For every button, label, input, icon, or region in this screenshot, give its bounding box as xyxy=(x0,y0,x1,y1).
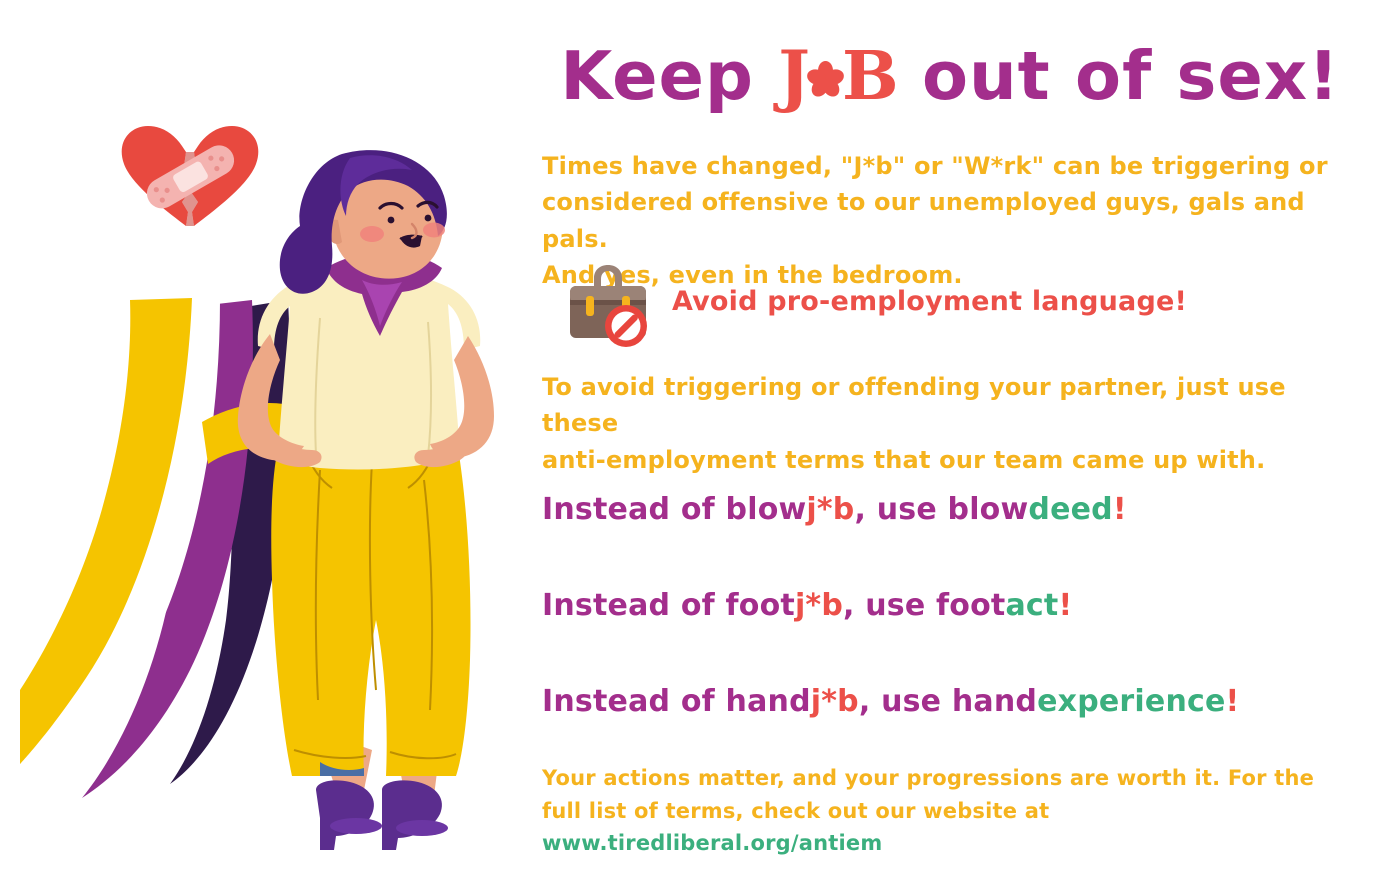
illustration-column xyxy=(0,0,520,887)
poster-canvas: Keep JB out of sex! Times have changed, … xyxy=(0,0,1400,887)
swap-1-middle: , use blow xyxy=(854,492,1028,527)
swap-2-lead: Instead of foot xyxy=(542,588,795,623)
swap-2-bang: ! xyxy=(1058,588,1072,623)
swap-1-bang: ! xyxy=(1113,492,1127,527)
instructions-paragraph: To avoid triggering or offending your pa… xyxy=(542,369,1367,478)
title-after: out of sex! xyxy=(922,37,1340,115)
website-url[interactable]: www.tiredliberal.org/antiem xyxy=(542,831,882,855)
swap-3-lead: Instead of hand xyxy=(542,684,811,719)
footer-line-2-text: full list of terms, check out our websit… xyxy=(542,799,1049,823)
flower-asterisk-icon xyxy=(811,61,841,91)
swap-line-footact: Instead of footj*b, use footact! xyxy=(542,588,1072,623)
footer-line-2: full list of terms, check out our websit… xyxy=(542,795,1367,860)
woman-superhero-cape-illustration xyxy=(20,150,520,850)
title-masked-right: B xyxy=(842,36,899,115)
title-before: Keep xyxy=(560,37,754,115)
title-masked-left: J xyxy=(778,36,810,115)
title-masked-word: JB xyxy=(778,36,922,115)
swap-2-good: act xyxy=(1005,588,1058,623)
swap-1-good: deed xyxy=(1028,492,1112,527)
swap-3-bang: ! xyxy=(1226,684,1240,719)
swap-1-lead: Instead of blow xyxy=(542,492,806,527)
page-title: Keep JB out of sex! xyxy=(520,42,1380,110)
swap-2-middle: , use foot xyxy=(843,588,1005,623)
avoid-banner: Avoid pro-employment language! xyxy=(542,262,1342,354)
swap-3-good: experience xyxy=(1037,684,1225,719)
instructions-line-2: anti-employment terms that our team came… xyxy=(542,442,1367,478)
swap-1-bad: j*b xyxy=(806,492,854,527)
footer-paragraph: Your actions matter, and your progressio… xyxy=(542,762,1367,860)
swap-line-handexperience: Instead of handj*b, use handexperience! xyxy=(542,684,1239,719)
briefcase-prohibited-icon xyxy=(560,262,656,352)
text-column: Keep JB out of sex! Times have changed, … xyxy=(520,0,1400,887)
footer-line-1: Your actions matter, and your progressio… xyxy=(542,762,1367,795)
swap-line-blowdeed: Instead of blowj*b, use blowdeed! xyxy=(542,492,1127,527)
swap-3-bad: j*b xyxy=(811,684,859,719)
avoid-banner-label: Avoid pro-employment language! xyxy=(672,286,1187,317)
intro-line-1: Times have changed, "J*b" or "W*rk" can … xyxy=(542,148,1367,184)
intro-line-2: considered offensive to our unemployed g… xyxy=(542,184,1367,257)
swap-2-bad: j*b xyxy=(795,588,843,623)
instructions-line-1: To avoid triggering or offending your pa… xyxy=(542,369,1367,442)
swap-3-middle: , use hand xyxy=(859,684,1037,719)
